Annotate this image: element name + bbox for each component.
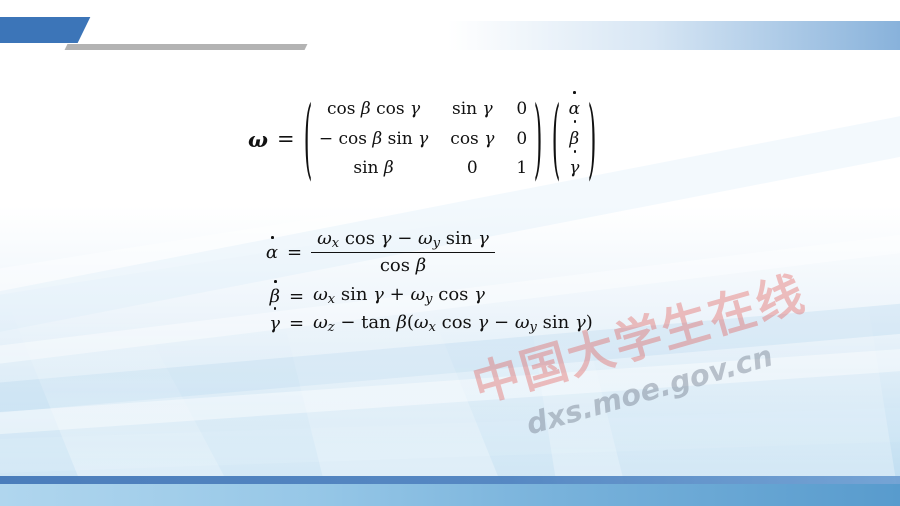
cos-fn: cos [450, 129, 478, 149]
vector-paren-close: ) [588, 89, 597, 189]
omega-x-subscript: x [328, 293, 335, 308]
omega-x-subscript: x [332, 236, 339, 251]
beta-var: β [361, 99, 371, 119]
sin-fn: sin [446, 228, 473, 249]
gamma-var: γ [575, 312, 586, 333]
vector-cell-gamma-dot: γ [569, 155, 580, 183]
gamma-var: γ [478, 228, 489, 249]
matrix-cell-r1c1: cos β cos γ [319, 96, 428, 124]
slide-body: ω = ( cos β cos γ sin γ 0 − cos β sin γ … [0, 0, 900, 506]
matrix-paren-open: ( [303, 89, 312, 189]
presentation-slide: ω = ( cos β cos γ sin γ 0 − cos β sin γ … [0, 0, 900, 506]
vector-cell-beta-dot: β [569, 126, 580, 154]
vector-cell-alpha-dot: α [569, 96, 580, 124]
alpha-equals-sign: = [287, 242, 302, 263]
beta-dot-symbol: β [270, 286, 280, 307]
omega-z-subscript: z [328, 320, 335, 335]
omega-var: ω [418, 228, 433, 249]
gamma-var: γ [483, 99, 493, 119]
cos-fn: cos [327, 99, 355, 119]
matrix-equation: ω = ( cos β cos γ sin γ 0 − cos β sin γ … [248, 96, 596, 183]
omega-var: ω [313, 284, 328, 305]
gamma-var: γ [569, 155, 579, 183]
omega-y-subscript: y [425, 293, 432, 308]
omega-var: ω [410, 284, 425, 305]
plus-sign: + [390, 284, 405, 305]
beta-var: β [416, 255, 426, 276]
alpha-fraction: ωx cos γ − ωy sin γ cos β [311, 228, 495, 276]
gamma-var: γ [381, 228, 392, 249]
omega-var: ω [515, 312, 530, 333]
gamma-dot-symbol: γ [269, 313, 280, 334]
gamma-var: γ [410, 99, 420, 119]
beta-var: β [396, 312, 406, 333]
matrix-equals-sign: = [277, 127, 295, 151]
minus-sign: − [397, 228, 412, 249]
cos-fn: cos [380, 255, 410, 276]
cos-fn: cos [438, 284, 468, 305]
alpha-numerator: ωx cos γ − ωy sin γ [311, 228, 495, 252]
matrix-grid: cos β cos γ sin γ 0 − cos β sin γ cos γ … [312, 96, 534, 183]
equation-gamma-dot: γ = ωz − tan β(ωx cos γ − ωy sin γ) [260, 312, 593, 335]
equation-alpha-dot: α = ωx cos γ − ωy sin γ cos β [258, 228, 593, 276]
paren-close: ) [586, 312, 593, 333]
matrix-cell-r3c3: 1 [516, 155, 527, 183]
minus-sign: − [494, 312, 509, 333]
beta-var: β [384, 158, 394, 178]
cos-fn: cos [376, 99, 404, 119]
matrix-cell-r1c2: sin γ [450, 96, 494, 124]
gamma-var: γ [474, 284, 485, 305]
tan-fn: tan [361, 312, 391, 333]
matrix-cell-r3c2: 0 [450, 155, 494, 183]
omega-y-subscript: y [530, 320, 537, 335]
vector-paren-open: ( [552, 89, 561, 189]
gamma-var: γ [418, 129, 428, 149]
gamma-rhs: ωz − tan β(ωx cos γ − ωy sin γ) [313, 312, 593, 335]
omega-symbol: ω [248, 127, 268, 152]
gamma-var: γ [478, 312, 489, 333]
sin-fn: sin [341, 284, 368, 305]
equation-beta-dot: β = ωx sin γ + ωy cos γ [260, 284, 593, 307]
beta-var: β [569, 126, 579, 154]
matrix-paren-close: ) [534, 89, 543, 189]
footer-accent-rule [0, 476, 900, 484]
cos-fn: cos [338, 129, 366, 149]
omega-y-subscript: y [433, 236, 440, 251]
minus-sign: − [319, 129, 333, 149]
omega-x-subscript: x [429, 320, 436, 335]
alpha-dot-symbol: α [266, 242, 278, 263]
footer-strip: dxs.moe.gov.cn [0, 484, 900, 506]
euler-rate-equations: α = ωx cos γ − ωy sin γ cos β β = ωx sin… [258, 228, 593, 339]
matrix-cell-r2c2: cos γ [450, 126, 494, 154]
beta-rhs: ωx sin γ + ωy cos γ [313, 284, 485, 307]
alpha-var: α [569, 96, 580, 124]
alpha-denominator: cos β [374, 253, 432, 276]
omega-var: ω [414, 312, 429, 333]
vector-grid: α β γ [561, 96, 588, 183]
sin-fn: sin [353, 158, 378, 178]
omega-var: ω [313, 312, 328, 333]
beta-var: β [372, 129, 382, 149]
matrix-cell-r2c3: 0 [516, 126, 527, 154]
sin-fn: sin [388, 129, 413, 149]
sin-fn: sin [452, 99, 477, 119]
beta-equals-sign: = [289, 286, 304, 307]
matrix-cell-r1c3: 0 [516, 96, 527, 124]
omega-var: ω [317, 228, 332, 249]
paren-open: ( [407, 312, 414, 333]
cos-fn: cos [442, 312, 472, 333]
matrix-cell-r3c1: sin β [319, 155, 428, 183]
gamma-var: γ [373, 284, 384, 305]
sin-fn: sin [543, 312, 570, 333]
euler-rate-vector: ( α β γ ) [552, 96, 596, 183]
matrix-cell-r2c1: − cos β sin γ [319, 126, 428, 154]
gamma-var: γ [484, 129, 494, 149]
minus-sign: − [340, 312, 355, 333]
matrix-block: ( cos β cos γ sin γ 0 − cos β sin γ cos … [304, 96, 543, 183]
cos-fn: cos [345, 228, 375, 249]
gamma-equals-sign: = [289, 313, 304, 334]
